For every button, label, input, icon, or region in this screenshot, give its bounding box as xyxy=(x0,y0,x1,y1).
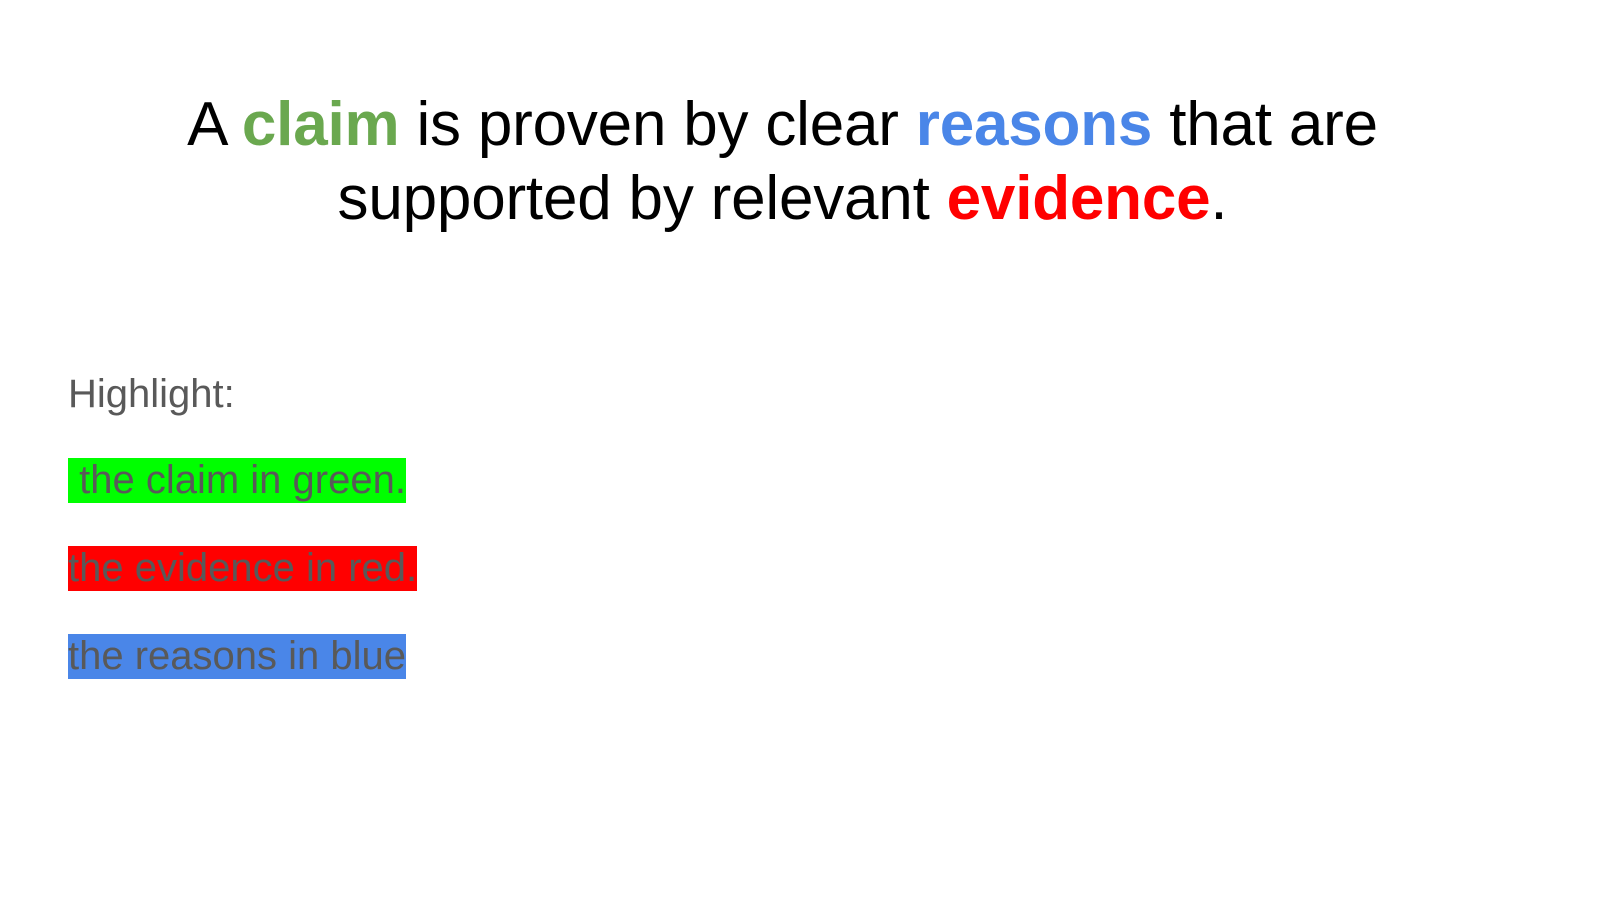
title-keyword-evidence: evidence xyxy=(947,164,1211,233)
highlight-claim-green: the claim in green. xyxy=(68,458,406,503)
title-line-1: A claim is proven by clear reasons that … xyxy=(170,88,1395,162)
title-text-a: A xyxy=(187,90,242,159)
title-line-2: supported by relevant evidence. xyxy=(170,162,1395,236)
title-text-period: . xyxy=(1210,164,1227,233)
list-item: the evidence in red. xyxy=(68,546,768,591)
slide-title: A claim is proven by clear reasons that … xyxy=(170,88,1395,236)
title-text-supported-by-relevant: supported by relevant xyxy=(338,164,947,233)
highlight-label: Highlight: xyxy=(68,368,768,420)
highlight-reasons-blue: the reasons in blue xyxy=(68,634,406,679)
highlight-evidence-red: the evidence in red. xyxy=(68,546,417,591)
title-text-that-are: that are xyxy=(1152,90,1378,159)
list-item: the claim in green. xyxy=(68,458,768,503)
title-text-is-proven-by-clear: is proven by clear xyxy=(399,90,915,159)
title-keyword-claim: claim xyxy=(242,90,400,159)
slide-body: Highlight: the claim in green. the evide… xyxy=(68,368,768,679)
title-keyword-reasons: reasons xyxy=(916,90,1152,159)
slide-canvas: A claim is proven by clear reasons that … xyxy=(0,0,1600,900)
list-item: the reasons in blue xyxy=(68,634,768,679)
